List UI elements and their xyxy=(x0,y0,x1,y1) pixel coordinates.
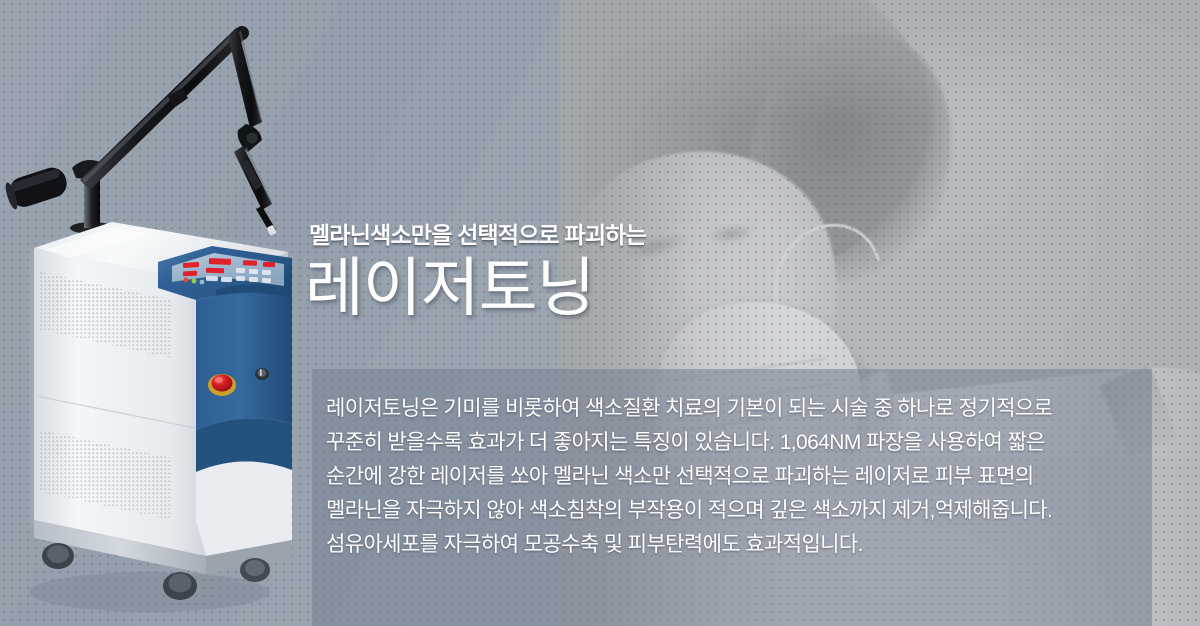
led-display xyxy=(263,262,275,267)
led-display xyxy=(206,268,224,274)
headline-block: 멜라닌색소만을 선택적으로 파괴하는 레이저토닝 xyxy=(303,222,1163,341)
key-switch xyxy=(255,368,269,380)
laser-machine-image xyxy=(0,0,320,626)
description-line: 꾸준히 받을수록 효과가 더 좋아지는 특징이 있습니다. 1,064NM 파장… xyxy=(326,426,1156,460)
laser-toning-banner: 멜라닌색소만을 선택적으로 파괴하는 레이저토닝 레이저토닝은 기미를 비롯하여… xyxy=(0,0,1200,626)
description-line: 멜라닌을 자극하지 않아 색소침착의 부작용이 적으며 깊은 색소까지 제거,억… xyxy=(326,494,1156,528)
led-display xyxy=(209,258,231,265)
articulated-arm xyxy=(3,26,277,236)
page-title: 레이저토닝 xyxy=(305,254,1163,323)
led-display xyxy=(183,271,197,277)
description-line: 섬유아세포를 자극하여 모공수축 및 피부탄력에도 효과적입니다. xyxy=(326,528,1156,562)
description-line: 레이저토닝은 기미를 비롯하여 색소질환 치료의 기본이 되는 시술 중 하나로… xyxy=(326,392,1156,426)
description-line: 순간에 강한 레이저를 쏘아 멜라닌 색소만 선택적으로 파괴하는 레이저로 피… xyxy=(326,460,1156,494)
emergency-stop-button xyxy=(208,374,236,396)
led-display xyxy=(243,260,257,265)
description-text: 레이저토닝은 기미를 비롯하여 색소질환 치료의 기본이 되는 시술 중 하나로… xyxy=(326,392,1156,562)
kicker-text: 멜라닌색소만을 선택적으로 파괴하는 xyxy=(309,222,1163,250)
